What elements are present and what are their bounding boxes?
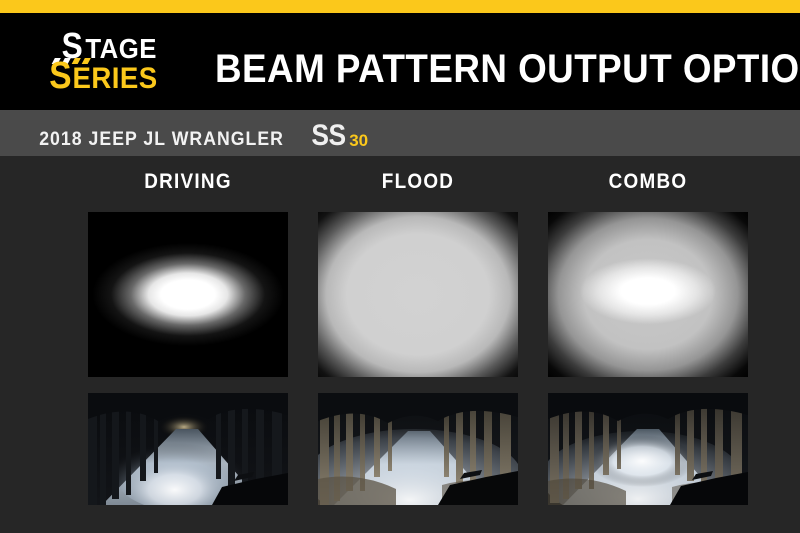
combo-beam-glow xyxy=(548,212,748,377)
column-title-combo: COMBO xyxy=(540,170,756,194)
combo-beam-pattern xyxy=(548,212,748,377)
stage-series-logo: S TAGE S ERIES xyxy=(44,22,194,94)
column-title-driving: DRIVING xyxy=(80,170,296,194)
subtitle-content: 2018 JEEP JL WRANGLER SS 30 xyxy=(30,119,368,153)
page-title: BEAM PATTERN OUTPUT OPTIONS xyxy=(215,46,739,92)
flood-beam-glow xyxy=(318,212,518,377)
driving-beam-pattern xyxy=(88,212,288,377)
model-prefix: SS xyxy=(311,119,345,153)
comparison-grid: DRIVING xyxy=(0,156,800,533)
model-badge: SS 30 xyxy=(309,119,368,153)
column-title-flood: FLOOD xyxy=(310,170,526,194)
flood-beam-pattern xyxy=(318,212,518,377)
svg-text:ERIES: ERIES xyxy=(73,62,158,94)
flood-road-photo xyxy=(318,393,518,505)
svg-text:S: S xyxy=(49,54,71,94)
combo-road-photo xyxy=(548,393,748,505)
beam-pattern-infographic: S TAGE S ERIES BEAM PATTERN OUTPUT OPTIO… xyxy=(0,0,800,533)
vehicle-label: 2018 JEEP JL WRANGLER xyxy=(39,129,284,151)
driving-beam-glow xyxy=(88,212,288,377)
top-accent-bar xyxy=(0,0,800,13)
model-number: 30 xyxy=(349,131,368,151)
driving-road-photo xyxy=(88,393,288,505)
svg-text:TAGE: TAGE xyxy=(85,33,156,64)
